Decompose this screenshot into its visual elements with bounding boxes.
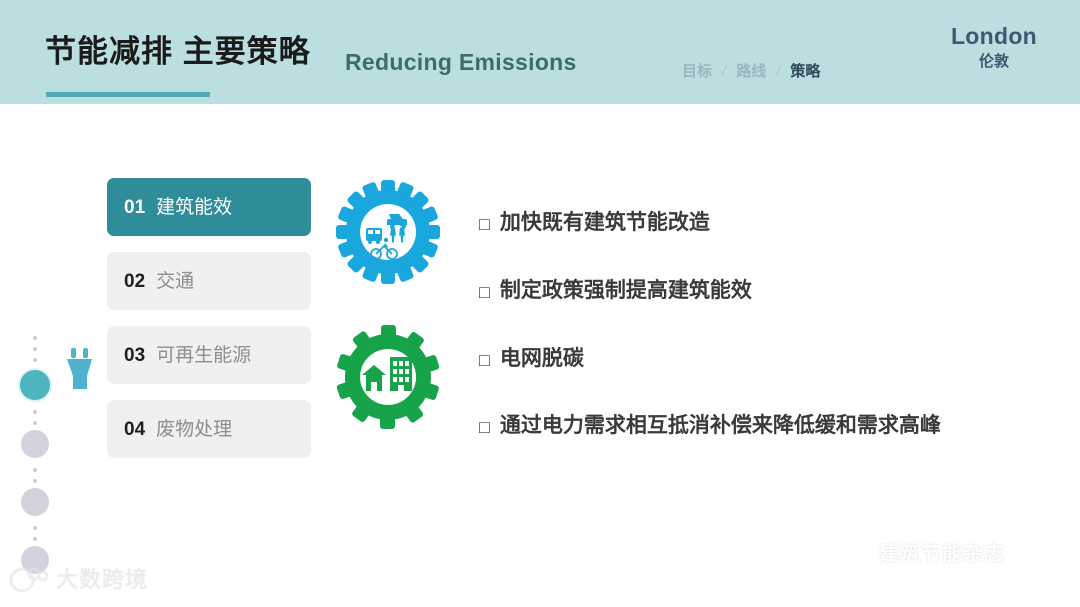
bullet-text: 通过电力需求相互抵消补偿来降低缓和需求高峰 [500,415,941,436]
rail-dot [33,537,37,541]
breadcrumb-separator: / [776,64,780,79]
bullet-text: 加快既有建筑节能改造 [500,212,710,233]
page-title-cn: 节能减排 主要策略 [45,36,311,67]
city-badge: London 伦敦 [920,22,1068,73]
city-name-cn: 伦敦 [920,51,1068,74]
bullet-marker-icon: □ [479,418,490,436]
menu-number: 01 [124,198,145,217]
slide-canvas: 节能减排 主要策略 Reducing Emissions 目标 / 路线 / 策… [0,0,1080,607]
sidebar-item-transport[interactable]: 02 交通 [107,252,311,310]
bullet-item: □ 通过电力需求相互抵消补偿来降低缓和需求高峰 [479,415,941,436]
slide-header: 节能减排 主要策略 Reducing Emissions 目标 / 路线 / 策… [0,0,1080,104]
bullet-item: □ 电网脱碳 [479,348,584,369]
menu-number: 02 [124,272,145,291]
rail-dot [33,347,37,351]
rail-dot [33,358,37,362]
rail-dot [33,421,37,425]
watermark-bottom-left: 大数跨境 [8,565,148,595]
menu-label: 废物处理 [156,420,232,439]
wechat-icon [840,541,870,567]
sidebar-item-renewable-energy[interactable]: 03 可再生能源 [107,326,311,384]
bullet-marker-icon: □ [479,215,490,233]
title-underline [46,92,210,97]
building-gear-icon [336,325,440,429]
sidebar-item-building-efficiency[interactable]: 01 建筑能效 [107,178,311,236]
transport-gear-icon [336,180,440,284]
bullet-item: □ 制定政策强制提高建筑能效 [479,280,752,301]
breadcrumb: 目标 / 路线 / 策略 [682,64,820,79]
breadcrumb-item-strategy[interactable]: 策略 [790,64,820,79]
rail-dot [33,526,37,530]
breadcrumb-item-goals[interactable]: 目标 [682,64,712,79]
rail-dot [33,336,37,340]
bullet-text: 电网脱碳 [500,348,584,369]
watermark-bottom-right: 建筑节能杂志 [840,541,1005,567]
page-title-en: Reducing Emissions [345,51,577,74]
breadcrumb-item-route[interactable]: 路线 [736,64,766,79]
rail-circle-active[interactable] [20,370,50,400]
bullet-text: 制定政策强制提高建筑能效 [500,280,752,301]
menu-number: 03 [124,346,145,365]
menu-label: 可再生能源 [156,346,251,365]
rail-dot [33,479,37,483]
breadcrumb-separator: / [722,64,726,79]
menu-number: 04 [124,420,145,439]
bullet-marker-icon: □ [479,351,490,369]
dashu-logo-icon [8,565,50,595]
rail-circle[interactable] [21,488,49,516]
bullet-item: □ 加快既有建筑节能改造 [479,212,710,233]
rail-dot [33,410,37,414]
bullet-marker-icon: □ [479,283,490,301]
rail-circle[interactable] [21,430,49,458]
power-plug-icon [63,346,97,392]
city-name-en: London [920,22,1068,51]
rail-dot [33,468,37,472]
menu-label: 交通 [156,272,194,291]
sidebar-item-waste-treatment[interactable]: 04 废物处理 [107,400,311,458]
watermark-text: 大数跨境 [56,569,148,591]
menu-label: 建筑能效 [156,198,232,217]
watermark-text: 建筑节能杂志 [879,544,1005,564]
